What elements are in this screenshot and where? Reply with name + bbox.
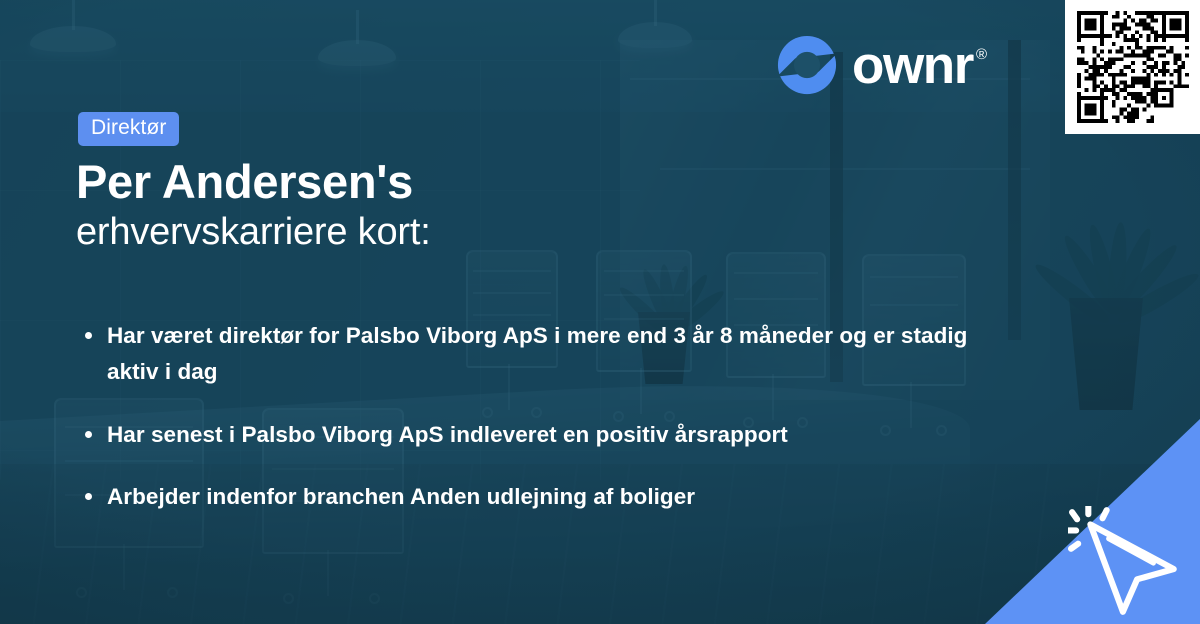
registered-trademark-icon: ®	[976, 47, 986, 62]
click-cursor-icon	[1068, 506, 1190, 618]
list-item: Har været direktør for Palsbo Viborg ApS…	[80, 318, 1000, 391]
bullet-dot-icon	[85, 431, 92, 438]
list-item-text: Arbejder indenfor branchen Anden udlejni…	[107, 484, 695, 509]
role-badge: Direktør	[78, 112, 179, 146]
qr-code-panel[interactable]	[1065, 0, 1200, 134]
ownr-wordmark: ownr ®	[852, 39, 986, 92]
list-item: Har senest i Palsbo Viborg ApS indlevere…	[80, 417, 1000, 453]
list-item: Arbejder indenfor branchen Anden udlejni…	[80, 479, 1000, 515]
career-facts-list: Har været direktør for Palsbo Viborg ApS…	[80, 318, 1000, 516]
person-name: Per Andersen's	[76, 156, 431, 209]
qr-code[interactable]	[1077, 11, 1189, 123]
bullet-dot-icon	[85, 332, 92, 339]
list-item-text: Har senest i Palsbo Viborg ApS indlevere…	[107, 422, 788, 447]
subtitle: erhvervskarriere kort:	[76, 209, 431, 255]
bullet-dot-icon	[85, 493, 92, 500]
ownr-logo[interactable]: ownr ®	[776, 34, 986, 96]
career-card: Direktør Per Andersen's erhvervskarriere…	[0, 0, 1200, 624]
ownr-circle-swoosh-icon	[776, 34, 838, 96]
ownr-wordmark-text: ownr	[852, 39, 973, 92]
list-item-text: Har været direktør for Palsbo Viborg ApS…	[107, 323, 967, 384]
page-title: Per Andersen's erhvervskarriere kort:	[76, 156, 431, 255]
